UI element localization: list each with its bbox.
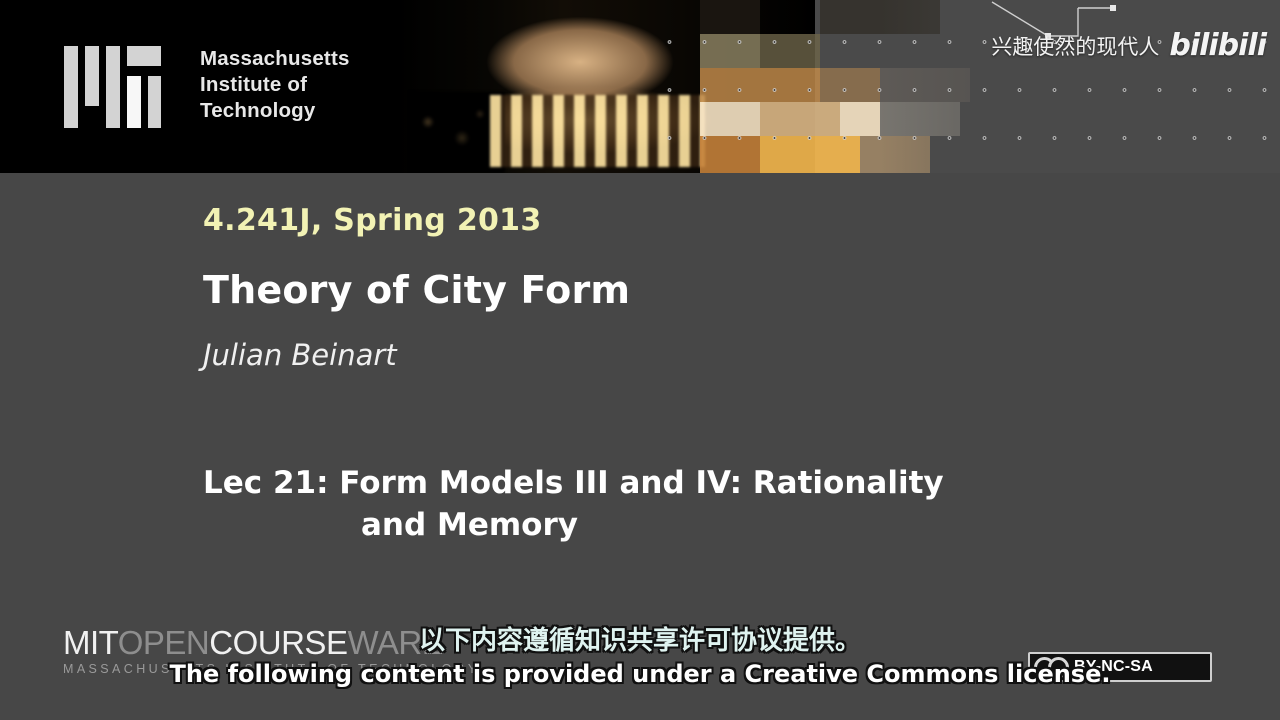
institution-line-3: Technology: [200, 98, 350, 124]
dot-grid-centers: [640, 0, 1280, 173]
subtitle-chinese: 以下内容遵循知识共享许可协议提供。: [0, 620, 1280, 657]
bilibili-watermark: 兴趣使然的现代人 bilibili: [991, 28, 1266, 63]
watermark-username: 兴趣使然的现代人: [991, 31, 1159, 61]
lecture-title: Lec 21: Form Models III and IV: Rational…: [203, 462, 1123, 546]
header-banner: Massachusetts Institute of Technology 兴趣…: [0, 0, 1280, 173]
instructor-name: Julian Beinart: [203, 338, 397, 372]
mit-logo: [64, 46, 160, 128]
institution-line-2: Institute of: [200, 72, 350, 98]
course-code: 4.241J, Spring 2013: [203, 203, 542, 238]
lecture-title-line-2: and Memory: [203, 504, 1123, 546]
institution-name: Massachusetts Institute of Technology: [200, 46, 350, 124]
subtitle-english: The following content is provided under …: [0, 660, 1280, 688]
bilibili-logo: bilibili: [1169, 28, 1266, 63]
course-title: Theory of City Form: [203, 268, 630, 312]
lecture-title-line-1: Lec 21: Form Models III and IV: Rational…: [203, 465, 944, 501]
institution-line-1: Massachusetts: [200, 46, 350, 72]
